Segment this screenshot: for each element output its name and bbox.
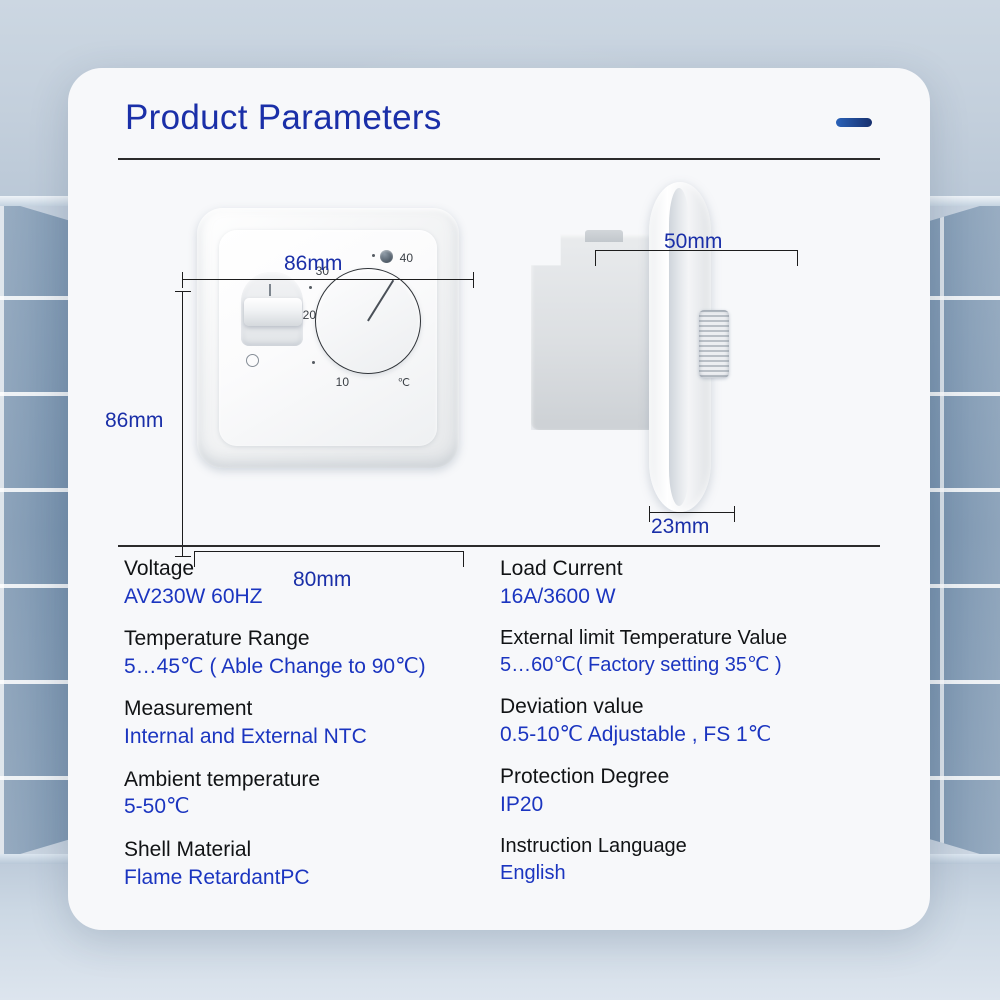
- page-title: Product Parameters: [125, 98, 442, 138]
- spec-value: English: [500, 860, 890, 886]
- dim-label-front-height: 86mm: [105, 409, 163, 433]
- dim-tick: [734, 506, 735, 522]
- divider-middle: [118, 545, 880, 547]
- switch-key: [244, 298, 302, 326]
- spec-label: Ambient temperature: [124, 767, 514, 794]
- spec-value: Flame RetardantPC: [124, 864, 514, 891]
- spec-label: Instruction Language: [500, 834, 890, 860]
- spec-label: Voltage: [124, 556, 514, 583]
- spec-row: Instruction Language English: [500, 834, 890, 886]
- spec-label: Protection Degree: [500, 764, 890, 791]
- spec-value: 16A/3600 W: [500, 583, 890, 610]
- thermostat-side-view: [523, 182, 793, 512]
- minus-icon[interactable]: [836, 118, 872, 127]
- dim-label-side-depth: 23mm: [651, 515, 709, 539]
- led-indicator-icon: [380, 250, 393, 263]
- dim-tick: [182, 272, 183, 288]
- dim-line-front-width-bottom: [194, 551, 464, 552]
- spec-row: Ambient temperature 5-50℃: [124, 767, 514, 821]
- spec-value: 5-50℃: [124, 793, 514, 820]
- spec-row: Shell Material Flame RetardantPC: [124, 837, 514, 891]
- spec-label: External limit Temperature Value: [500, 626, 890, 652]
- dim-line-side-depth: [649, 512, 735, 513]
- dial-tick-20: 20: [303, 308, 316, 322]
- spec-row: Deviation value 0.5-10℃ Adjustable , FS …: [500, 694, 890, 748]
- dim-tick: [473, 272, 474, 288]
- dial-tick-40: 40: [400, 251, 413, 265]
- spec-label: Shell Material: [124, 837, 514, 864]
- side-housing-tab: [585, 230, 623, 242]
- dial-dot-mark: [309, 286, 312, 289]
- dim-line-front-width-top: [182, 279, 474, 280]
- specifications-table: Voltage AV230W 60HZ Temperature Range 5……: [68, 556, 930, 930]
- spec-value: 5…45℃ ( Able Change to 90℃): [124, 653, 514, 680]
- dim-line-front-height: [182, 291, 183, 557]
- product-diagram-area: 20 30 40 10 ℃ 86mm 86: [68, 160, 930, 545]
- dial-unit-label: ℃: [398, 376, 410, 389]
- side-dial-ridges: [699, 310, 729, 378]
- product-parameters-card: Product Parameters 20 30 40 10 ℃: [68, 68, 930, 930]
- spec-row: Voltage AV230W 60HZ: [124, 556, 514, 610]
- spec-row: External limit Temperature Value 5…60℃( …: [500, 626, 890, 678]
- dim-tick: [175, 291, 191, 292]
- spec-label: Deviation value: [500, 694, 890, 721]
- temperature-dial: [315, 268, 421, 374]
- side-back-housing: [531, 234, 666, 430]
- dim-tick: [797, 250, 798, 266]
- spec-row: Protection Degree IP20: [500, 764, 890, 818]
- dial-dot-mark: [312, 361, 315, 364]
- dial-tick-10: 10: [336, 375, 349, 389]
- spec-label: Measurement: [124, 696, 514, 723]
- dim-label-side-width: 50mm: [664, 230, 722, 254]
- dial-dot-mark: [372, 254, 375, 257]
- spec-value: 5…60℃( Factory setting 35℃ ): [500, 652, 890, 678]
- spec-row: Measurement Internal and External NTC: [124, 696, 514, 750]
- spec-column-right: Load Current 16A/3600 W External limit T…: [500, 556, 890, 902]
- switch-on-mark: [269, 284, 271, 296]
- spec-row: Temperature Range 5…45℃ ( Able Change to…: [124, 626, 514, 680]
- spec-column-left: Voltage AV230W 60HZ Temperature Range 5……: [124, 556, 514, 907]
- spec-label: Temperature Range: [124, 626, 514, 653]
- dial-pointer: [367, 280, 394, 322]
- spec-value: IP20: [500, 791, 890, 818]
- dim-tick: [595, 250, 596, 266]
- spec-value: AV230W 60HZ: [124, 583, 514, 610]
- switch-off-mark: [246, 354, 259, 367]
- spec-row: Load Current 16A/3600 W: [500, 556, 890, 610]
- spec-value: 0.5-10℃ Adjustable , FS 1℃: [500, 721, 890, 748]
- power-rocker-switch: [241, 272, 303, 346]
- spec-value: Internal and External NTC: [124, 723, 514, 750]
- spec-label: Load Current: [500, 556, 890, 583]
- thermostat-front-view: 20 30 40 10 ℃: [197, 208, 459, 468]
- dim-label-front-width-top: 86mm: [284, 252, 342, 276]
